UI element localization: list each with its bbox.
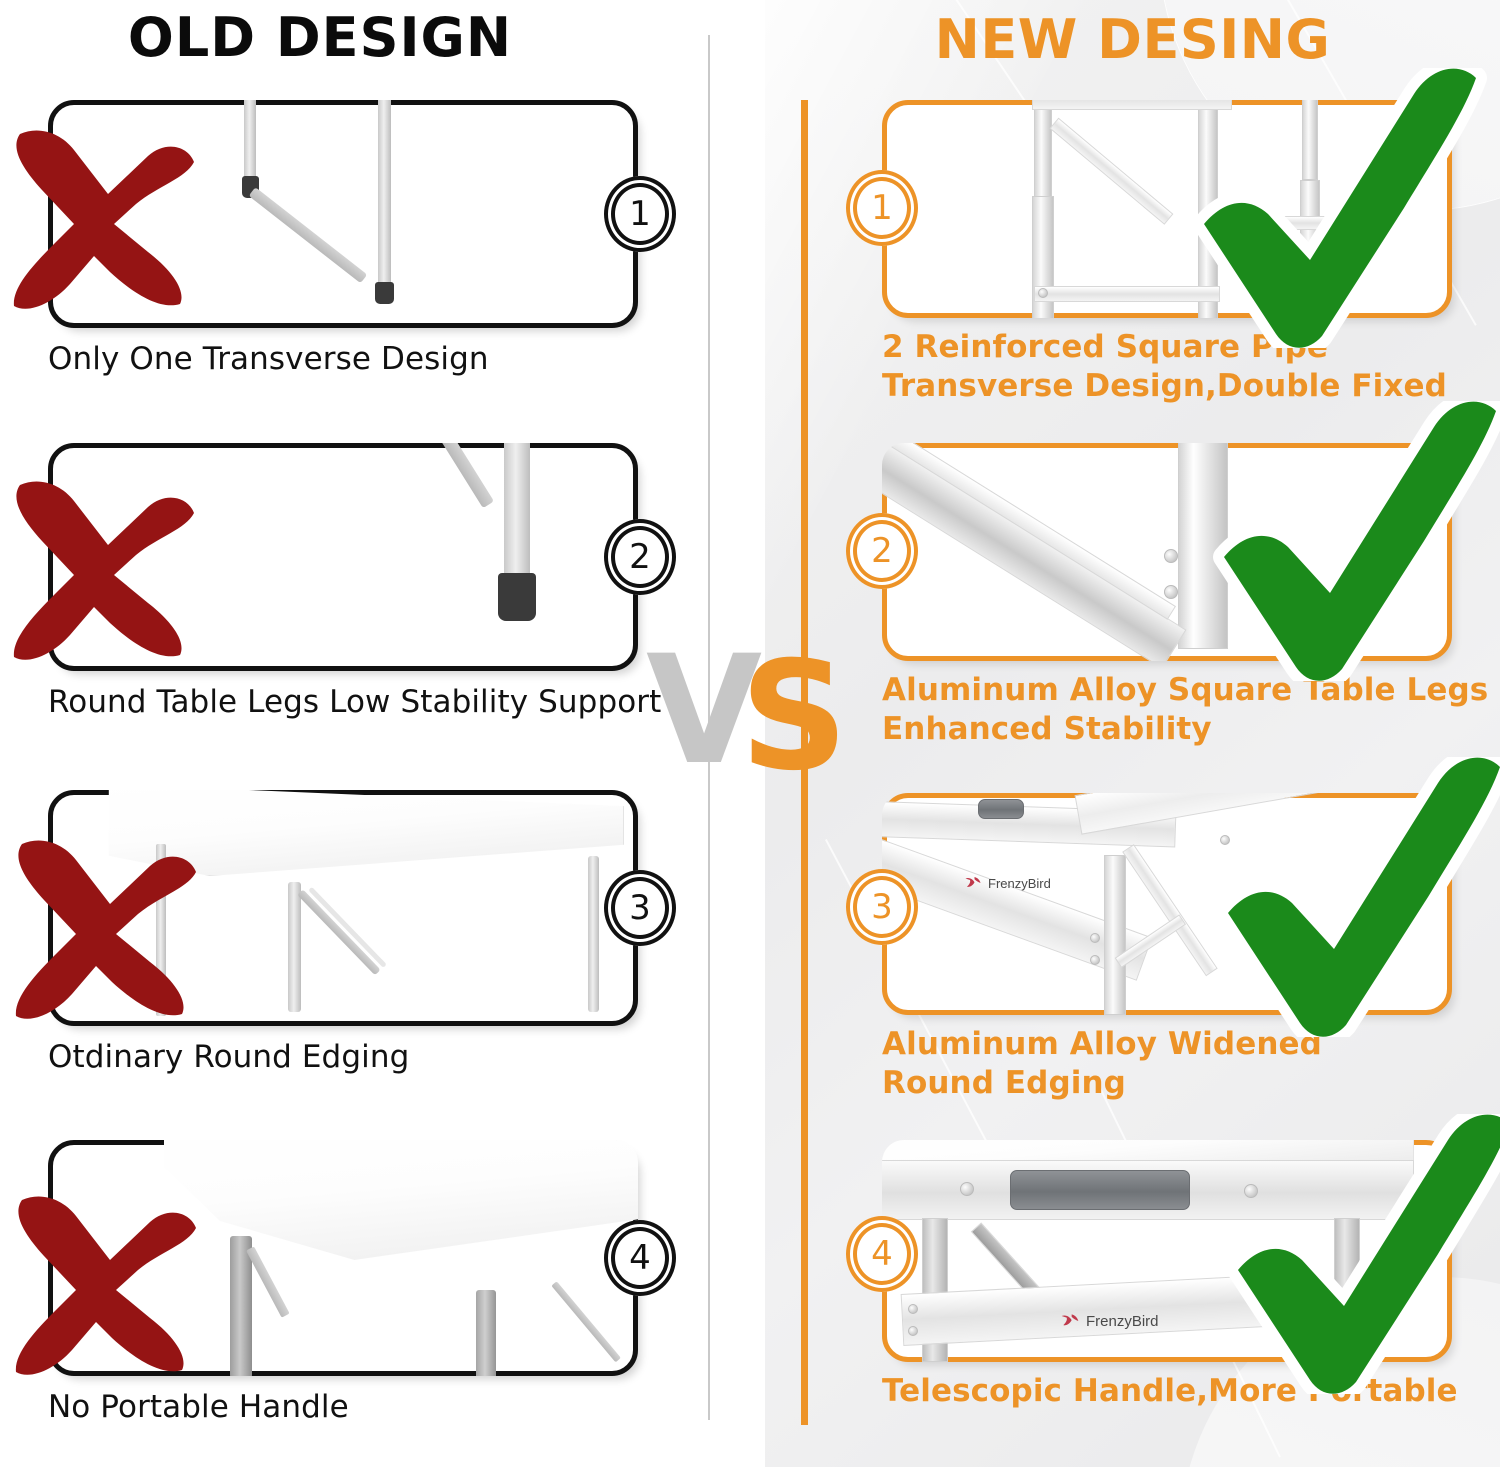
old-design-panel: OLD DESIGN 1 Only One Transverse D bbox=[0, 0, 710, 1467]
old-design-caption-4: No Portable Handle bbox=[48, 1388, 648, 1427]
old-design-card-3: 3 Otdinary Round Edging bbox=[48, 790, 638, 1026]
old-design-card-2: 2 Round Table Legs Low Stability Support bbox=[48, 443, 638, 671]
brand-name: FrenzyBird bbox=[988, 876, 1051, 891]
old-design-caption-1: Only One Transverse Design bbox=[48, 340, 648, 379]
badge-number: 2 bbox=[871, 534, 893, 568]
new-table-art-4: FrenzyBird bbox=[882, 1140, 1452, 1362]
old-design-badge-3: 3 bbox=[604, 870, 676, 946]
panel-divider bbox=[708, 35, 710, 1420]
new-design-badge-1: 1 bbox=[846, 170, 918, 246]
new-design-caption-3: Aluminum Alloy Widened Round Edging bbox=[882, 1025, 1500, 1103]
badge-number: 3 bbox=[871, 890, 893, 924]
old-design-title: OLD DESIGN bbox=[0, 6, 640, 69]
new-design-badge-2: 2 bbox=[846, 513, 918, 589]
old-design-badge-2: 2 bbox=[604, 519, 676, 595]
brand-logo-card-3: FrenzyBird bbox=[964, 875, 1051, 891]
new-design-badge-4: 4 bbox=[846, 1216, 918, 1292]
badge-number: 1 bbox=[629, 197, 651, 231]
old-design-card-4: 4 No Portable Handle bbox=[48, 1140, 638, 1376]
new-design-badge-3: 3 bbox=[846, 869, 918, 945]
badge-number: 4 bbox=[629, 1241, 651, 1275]
old-design-badge-4: 4 bbox=[604, 1220, 676, 1296]
new-design-card-2: 2 Aluminum Alloy Square Table Legs Enhan… bbox=[882, 443, 1452, 661]
badge-number: 1 bbox=[871, 191, 893, 225]
brand-name: FrenzyBird bbox=[1086, 1313, 1159, 1330]
new-table-art-2 bbox=[882, 443, 1452, 661]
badge-number: 2 bbox=[629, 540, 651, 574]
new-design-panel: NEW DESING 1 bbox=[765, 0, 1500, 1467]
orange-vertical-rail bbox=[801, 100, 808, 1425]
old-table-art-3 bbox=[48, 790, 638, 1026]
old-table-art-4 bbox=[48, 1140, 638, 1376]
new-table-art-1 bbox=[882, 100, 1452, 318]
new-design-card-4: FrenzyBird 4 Telescopic Handle,More Port… bbox=[882, 1140, 1452, 1362]
new-design-title: NEW DESING bbox=[765, 8, 1500, 71]
old-design-caption-2: Round Table Legs Low Stability Support bbox=[48, 683, 668, 722]
brand-logo-card-4: FrenzyBird bbox=[1060, 1312, 1159, 1330]
new-design-caption-2: Aluminum Alloy Square Table Legs Enhance… bbox=[882, 671, 1500, 749]
new-design-caption-1: 2 Reinforced Square Pipe Transverse Desi… bbox=[882, 328, 1500, 406]
new-design-caption-4: Telescopic Handle,More Portable bbox=[882, 1372, 1500, 1411]
new-design-card-3: FrenzyBird 3 Aluminum Alloy Widened Roun… bbox=[882, 793, 1452, 1015]
old-design-card-1: 1 Only One Transverse Design bbox=[48, 100, 638, 328]
badge-number: 3 bbox=[629, 891, 651, 925]
old-design-badge-1: 1 bbox=[604, 176, 676, 252]
new-table-art-3: FrenzyBird bbox=[882, 793, 1452, 1015]
badge-number: 4 bbox=[871, 1237, 893, 1271]
new-design-card-1: 1 2 Reinforced Square Pipe Transverse De… bbox=[882, 100, 1452, 318]
telescopic-handle bbox=[1010, 1170, 1190, 1210]
old-table-art-2 bbox=[48, 443, 638, 671]
old-table-art-1 bbox=[48, 100, 638, 328]
old-design-caption-3: Otdinary Round Edging bbox=[48, 1038, 648, 1077]
